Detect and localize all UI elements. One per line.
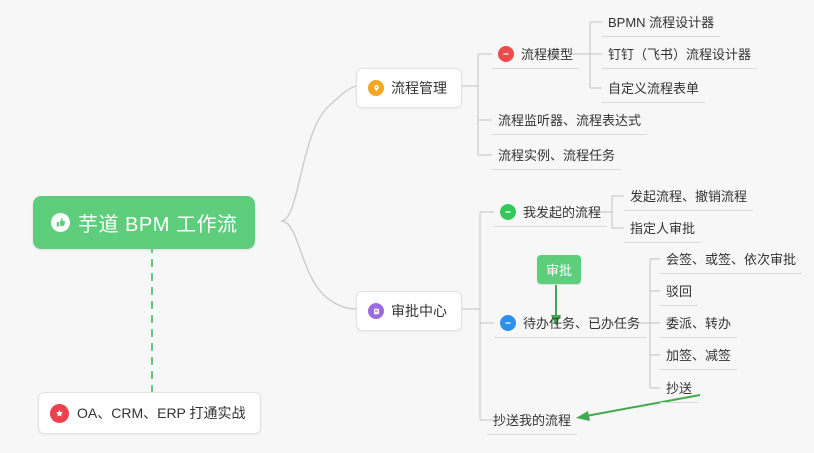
- leaf-listener-expression-label: 流程监听器、流程表达式: [498, 110, 641, 129]
- leaf-assign-approver-label: 指定人审批: [630, 218, 695, 237]
- leaf-countersign[interactable]: 会签、或签、依次审批: [660, 245, 802, 274]
- node-process-model[interactable]: 流程模型: [492, 40, 579, 69]
- root-node[interactable]: 芋道 BPM 工作流: [33, 196, 255, 249]
- card-integration-practice-label: OA、CRM、ERP 打通实战: [77, 403, 246, 423]
- leaf-delegate-transfer[interactable]: 委派、转办: [660, 309, 737, 338]
- location-pin-icon: [368, 80, 384, 96]
- leaf-add-remove-sign[interactable]: 加签、减签: [660, 341, 737, 370]
- branch-approval-center-label: 审批中心: [391, 301, 447, 321]
- node-my-started-processes-label: 我发起的流程: [523, 202, 601, 221]
- leaf-add-remove-sign-label: 加签、减签: [666, 345, 731, 364]
- node-my-started-processes[interactable]: 我发起的流程: [494, 198, 607, 227]
- branch-process-management-label: 流程管理: [391, 78, 447, 98]
- node-todo-done-tasks[interactable]: 待办任务、已办任务: [494, 309, 646, 338]
- leaf-cc[interactable]: 抄送: [660, 374, 698, 403]
- leaf-start-cancel-process-label: 发起流程、撤销流程: [630, 186, 747, 205]
- badge-approval[interactable]: 审批: [537, 255, 581, 284]
- leaf-delegate-transfer-label: 委派、转办: [666, 313, 731, 332]
- leaf-bpmn-designer-label: BPMN 流程设计器: [608, 12, 714, 31]
- leaf-countersign-label: 会签、或签、依次审批: [666, 249, 796, 268]
- node-process-model-label: 流程模型: [521, 44, 573, 63]
- clipboard-icon: [368, 303, 384, 319]
- leaf-cc-label: 抄送: [666, 378, 692, 397]
- minus-circle-icon: [500, 204, 516, 220]
- branch-process-management[interactable]: 流程管理: [356, 68, 462, 108]
- branch-approval-center[interactable]: 审批中心: [356, 291, 462, 331]
- leaf-instance-task-label: 流程实例、流程任务: [498, 145, 615, 164]
- leaf-start-cancel-process[interactable]: 发起流程、撤销流程: [624, 182, 753, 211]
- minus-circle-icon: [498, 46, 514, 62]
- leaf-reject-label: 驳回: [666, 281, 692, 300]
- leaf-reject[interactable]: 驳回: [660, 277, 698, 306]
- badge-approval-label: 审批: [546, 263, 572, 278]
- node-todo-done-tasks-label: 待办任务、已办任务: [523, 313, 640, 332]
- leaf-listener-expression[interactable]: 流程监听器、流程表达式: [492, 106, 647, 135]
- leaf-custom-form-label: 自定义流程表单: [608, 78, 699, 97]
- minus-circle-icon: [500, 315, 516, 331]
- mindmap-canvas: 芋道 BPM 工作流 流程管理 流程模型 BPMN 流程设计器 钉钉（飞书）流程…: [0, 0, 814, 453]
- card-integration-practice[interactable]: OA、CRM、ERP 打通实战: [38, 392, 261, 434]
- leaf-dingtalk-designer-label: 钉钉（飞书）流程设计器: [608, 44, 751, 63]
- leaf-dingtalk-designer[interactable]: 钉钉（飞书）流程设计器: [602, 40, 757, 69]
- leaf-cc-to-me-processes[interactable]: 抄送我的流程: [487, 406, 577, 435]
- leaf-custom-form[interactable]: 自定义流程表单: [602, 74, 705, 103]
- leaf-instance-task[interactable]: 流程实例、流程任务: [492, 141, 621, 170]
- leaf-assign-approver[interactable]: 指定人审批: [624, 214, 701, 243]
- thumbs-up-icon: [51, 213, 70, 232]
- root-label: 芋道 BPM 工作流: [78, 208, 237, 237]
- leaf-bpmn-designer[interactable]: BPMN 流程设计器: [602, 8, 720, 37]
- leaf-cc-to-me-processes-label: 抄送我的流程: [493, 410, 571, 429]
- star-icon: [50, 404, 69, 423]
